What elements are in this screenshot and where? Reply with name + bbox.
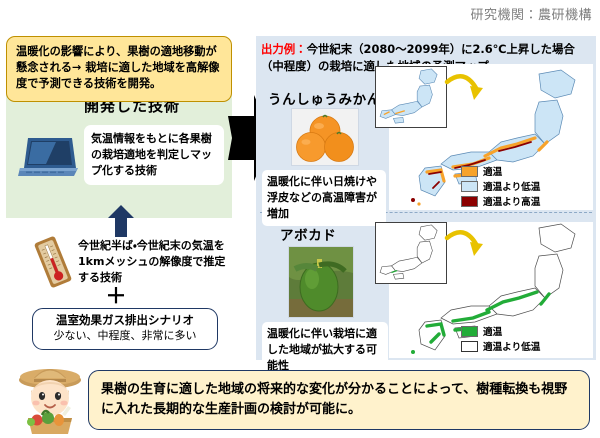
legend-label: 適温 <box>483 164 502 178</box>
legend-label: 適温より低温 <box>483 339 540 353</box>
issue-callout: 温暖化の影響により、果樹の適地移動が懸念される→ 栽培に適した地域を高解像度で予… <box>6 36 232 102</box>
legend-swatch-cooler <box>461 341 478 352</box>
transition-arrow-avocado <box>444 226 486 264</box>
legend-item: 適温 <box>461 164 540 178</box>
developed-technology-panel: 開発した技術 気温情報をもとに各果樹の栽培適地を判定しマップ化する技術 <box>6 88 232 218</box>
legend-swatch-cooler <box>461 181 478 192</box>
output-example-panel: 出力例：今世紀末（2080～2099年）に2.6℃上昇した場合（中程度）の栽培に… <box>256 36 596 360</box>
laptop-icon <box>16 134 80 182</box>
crop-name-mandarin: うんしゅうみかん <box>268 88 381 108</box>
farmer-with-vegetable-basket-icon <box>12 358 88 434</box>
ghg-scenario-levels: 少ない、中程度、非常に多い <box>39 329 211 344</box>
legend-item: 適温 <box>461 324 540 338</box>
legend-label: 適温 <box>483 324 502 338</box>
transition-arrow-mandarin <box>444 70 486 108</box>
crop-note-mandarin: 温暖化に伴い日焼けや浮皮などの高温障害が増加 <box>262 170 386 226</box>
avocado-photo <box>288 246 354 318</box>
output-example-label: 出力例： <box>261 42 307 56</box>
crop-name-avocado: アボカド <box>280 224 336 244</box>
ghg-scenario-title: 温室効果ガス排出シナリオ <box>39 313 211 328</box>
mandarin-current-inset: 現在 <box>375 66 447 128</box>
legend-mandarin: 適温 適温より低温 適温より高温 <box>461 164 540 209</box>
legend-item: 適温より低温 <box>461 179 540 193</box>
research-organization-label: 研究機関：農研機構 <box>0 4 592 23</box>
legend-swatch-tekion <box>461 166 478 177</box>
plus-sign: ＋ <box>0 286 232 307</box>
legend-swatch-tekion <box>461 326 478 337</box>
legend-avocado: 適温 適温より低温 <box>461 324 540 354</box>
avocado-current-inset: 現在 <box>375 222 447 284</box>
legend-label: 適温より低温 <box>483 179 540 193</box>
mandarin-orange-photo <box>291 108 359 166</box>
legend-item: 適温より低温 <box>461 339 540 353</box>
legend-item: 適温より高温 <box>461 194 540 208</box>
conclusion-banner: 果樹の生育に適した地域の将来的な変化が分かることによって、樹種転換も視野に入れた… <box>88 370 590 430</box>
infographic-root: 研究機関：農研機構 開発した技術 気温情報をもとに各果樹の栽培適地を判定しマップ… <box>0 0 600 434</box>
legend-swatch-hotter <box>461 196 478 207</box>
up-arrow-icon <box>108 205 134 237</box>
tech-bubble-text: 気温情報をもとに各果樹の栽培適地を判定しマップ化する技術 <box>84 125 224 185</box>
left-column: 温暖化の影響により、果樹の適地移動が懸念される→ 栽培に適した地域を高解像度で予… <box>6 36 232 102</box>
mesh-resolution-text: 今世紀半ば・今世紀末の気温を1kmメッシュの解像度で推定する技術 <box>78 238 230 286</box>
thermometer-icon <box>30 236 76 288</box>
ghg-scenario-box: 温室効果ガス排出シナリオ 少ない、中程度、非常に多い <box>32 308 218 350</box>
legend-label: 適温より高温 <box>483 194 540 208</box>
